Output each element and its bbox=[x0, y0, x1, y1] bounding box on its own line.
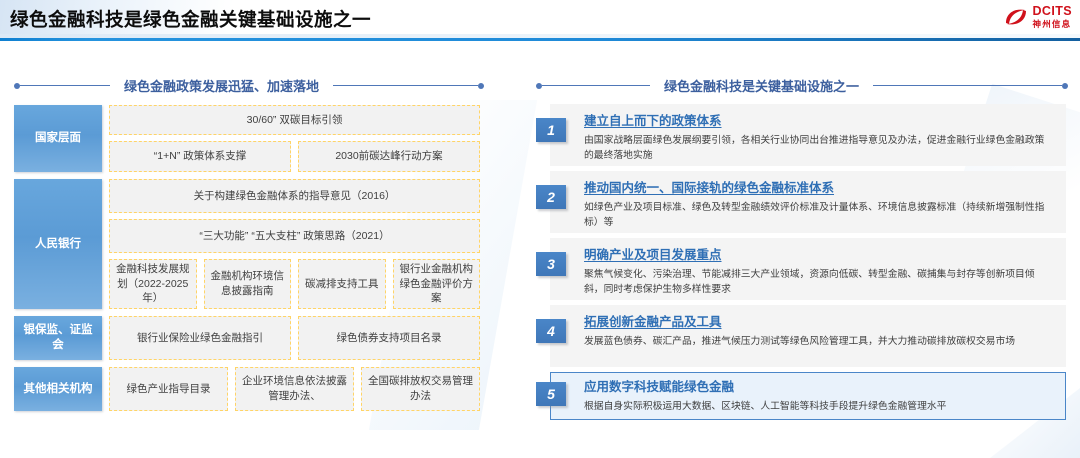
matrix-cell: 银行业保险业绿色金融指引 bbox=[109, 316, 291, 360]
matrix-row-label: 国家层面 bbox=[14, 105, 102, 172]
rule-left bbox=[20, 85, 110, 87]
title-rule bbox=[0, 38, 1080, 41]
bullet-dot-icon bbox=[1062, 83, 1068, 89]
matrix-row: 国家层面 30/60” 双碳目标引领 “1+N” 政策体系支撑 2030前碳达峰… bbox=[14, 105, 480, 172]
title-band: 绿色金融科技是绿色金融关键基础设施之一 bbox=[0, 0, 1080, 42]
matrix-row: 人民银行 关于构建绿色金融体系的指导意见（2016） “三大功能” “五大支柱”… bbox=[14, 179, 480, 309]
matrix-line: 绿色产业指导目录 企业环境信息依法披露管理办法、 全国碳排放权交易管理办法 bbox=[109, 367, 480, 411]
right-section-header: 绿色金融科技是关键基础设施之一 bbox=[536, 76, 1068, 95]
list-item-title: 应用数字科技赋能绿色金融 bbox=[584, 378, 1054, 397]
list-item-number-badge: 4 bbox=[536, 319, 566, 343]
matrix-cell: 2030前碳达峰行动方案 bbox=[298, 141, 480, 172]
matrix-cell: 全国碳排放权交易管理办法 bbox=[361, 367, 480, 411]
policy-matrix: 国家层面 30/60” 双碳目标引领 “1+N” 政策体系支撑 2030前碳达峰… bbox=[14, 105, 480, 411]
list-item-number-badge: 1 bbox=[536, 118, 566, 142]
list-item: 4 拓展创新金融产品及工具 发展蓝色债券、碳汇产品，推进气候压力测试等绿色风险管… bbox=[536, 305, 1066, 367]
matrix-row-label: 银保监、证监会 bbox=[14, 316, 102, 360]
right-section-title: 绿色金融科技是关键基础设施之一 bbox=[650, 76, 873, 95]
logo-cn-text: 神州信息 bbox=[1033, 20, 1073, 29]
matrix-cell: 金融机构环境信息披露指南 bbox=[204, 259, 292, 309]
list-item-desc: 根据自身实际积极运用大数据、区块链、人工智能等科技手段提升绿色金融管理水平 bbox=[584, 399, 1054, 414]
rule-right bbox=[873, 85, 1062, 87]
matrix-line: “三大功能” “五大支柱” 政策思路（2021） bbox=[109, 219, 480, 253]
list-item: 3 明确产业及项目发展重点 聚焦气候变化、污染治理、节能减排三大产业领域，资源向… bbox=[536, 238, 1066, 300]
list-item-title: 拓展创新金融产品及工具 bbox=[584, 313, 1054, 332]
matrix-cell: 金融科技发展规划（2022-2025年） bbox=[109, 259, 197, 309]
list-item-title: 明确产业及项目发展重点 bbox=[584, 246, 1054, 265]
key-infrastructure-list: 1 建立自上而下的政策体系 由国家战略层面绿色发展纲要引领，各相关行业协同出台推… bbox=[536, 104, 1066, 425]
left-section-title: 绿色金融政策发展迅猛、加速落地 bbox=[110, 76, 333, 95]
matrix-line: 30/60” 双碳目标引领 bbox=[109, 105, 480, 135]
rule-left bbox=[542, 85, 650, 87]
brand-logo: DCITS 神州信息 bbox=[1003, 5, 1073, 28]
list-item-desc: 由国家战略层面绿色发展纲要引领，各相关行业协同出台推进指导意见及办法，促进金融行… bbox=[584, 133, 1054, 163]
dcits-swirl-icon bbox=[1003, 6, 1029, 28]
matrix-row: 其他相关机构 绿色产业指导目录 企业环境信息依法披露管理办法、 全国碳排放权交易… bbox=[14, 367, 480, 411]
matrix-row-label: 其他相关机构 bbox=[14, 367, 102, 411]
matrix-cell: 绿色产业指导目录 bbox=[109, 367, 228, 411]
list-item-number-badge: 5 bbox=[536, 382, 566, 406]
list-item-number-badge: 2 bbox=[536, 185, 566, 209]
rule-right bbox=[333, 85, 478, 87]
matrix-cell: “1+N” 政策体系支撑 bbox=[109, 141, 291, 172]
matrix-cell: 碳减排支持工具 bbox=[298, 259, 386, 309]
list-item-desc: 聚焦气候变化、污染治理、节能减排三大产业领域，资源向低碳、转型金融、碳捕集与封存… bbox=[584, 267, 1054, 297]
matrix-row: 银保监、证监会 银行业保险业绿色金融指引 绿色债券支持项目名录 bbox=[14, 316, 480, 360]
list-item: 1 建立自上而下的政策体系 由国家战略层面绿色发展纲要引领，各相关行业协同出台推… bbox=[536, 104, 1066, 166]
list-item-title: 建立自上而下的政策体系 bbox=[584, 112, 1054, 131]
matrix-cell: 30/60” 双碳目标引领 bbox=[109, 105, 480, 135]
matrix-cell: 绿色债券支持项目名录 bbox=[298, 316, 480, 360]
matrix-line: “1+N” 政策体系支撑 2030前碳达峰行动方案 bbox=[109, 141, 480, 172]
list-item-desc: 发展蓝色债券、碳汇产品，推进气候压力测试等绿色风险管理工具，并大力推动碳排放碳权… bbox=[584, 334, 1054, 349]
slide-canvas: 绿色金融科技是绿色金融关键基础设施之一 DCITS 神州信息 绿色金融政策发展迅… bbox=[0, 0, 1080, 458]
logo-en-text: DCITS bbox=[1033, 5, 1073, 18]
list-item: 2 推动国内统一、国际接轨的绿色金融标准体系 如绿色产业及项目标准、绿色及转型金… bbox=[536, 171, 1066, 233]
left-section-header: 绿色金融政策发展迅猛、加速落地 bbox=[14, 76, 484, 95]
matrix-line: 关于构建绿色金融体系的指导意见（2016） bbox=[109, 179, 480, 213]
list-item-desc: 如绿色产业及项目标准、绿色及转型金融绩效评价标准及计量体系、环境信息披露标准（持… bbox=[584, 200, 1054, 230]
matrix-cell: 企业环境信息依法披露管理办法、 bbox=[235, 367, 354, 411]
list-item-highlighted: 5 应用数字科技赋能绿色金融 根据自身实际积极运用大数据、区块链、人工智能等科技… bbox=[536, 372, 1066, 420]
matrix-cell: “三大功能” “五大支柱” 政策思路（2021） bbox=[109, 219, 480, 253]
bullet-dot-icon bbox=[478, 83, 484, 89]
matrix-cell: 银行业金融机构绿色金融评价方案 bbox=[393, 259, 481, 309]
page-title: 绿色金融科技是绿色金融关键基础设施之一 bbox=[10, 6, 371, 32]
matrix-line: 金融科技发展规划（2022-2025年） 金融机构环境信息披露指南 碳减排支持工… bbox=[109, 259, 480, 309]
list-item-title: 推动国内统一、国际接轨的绿色金融标准体系 bbox=[584, 179, 1054, 198]
matrix-line: 银行业保险业绿色金融指引 绿色债券支持项目名录 bbox=[109, 316, 480, 360]
list-item-number-badge: 3 bbox=[536, 252, 566, 276]
matrix-row-label: 人民银行 bbox=[14, 179, 102, 309]
matrix-cell: 关于构建绿色金融体系的指导意见（2016） bbox=[109, 179, 480, 213]
